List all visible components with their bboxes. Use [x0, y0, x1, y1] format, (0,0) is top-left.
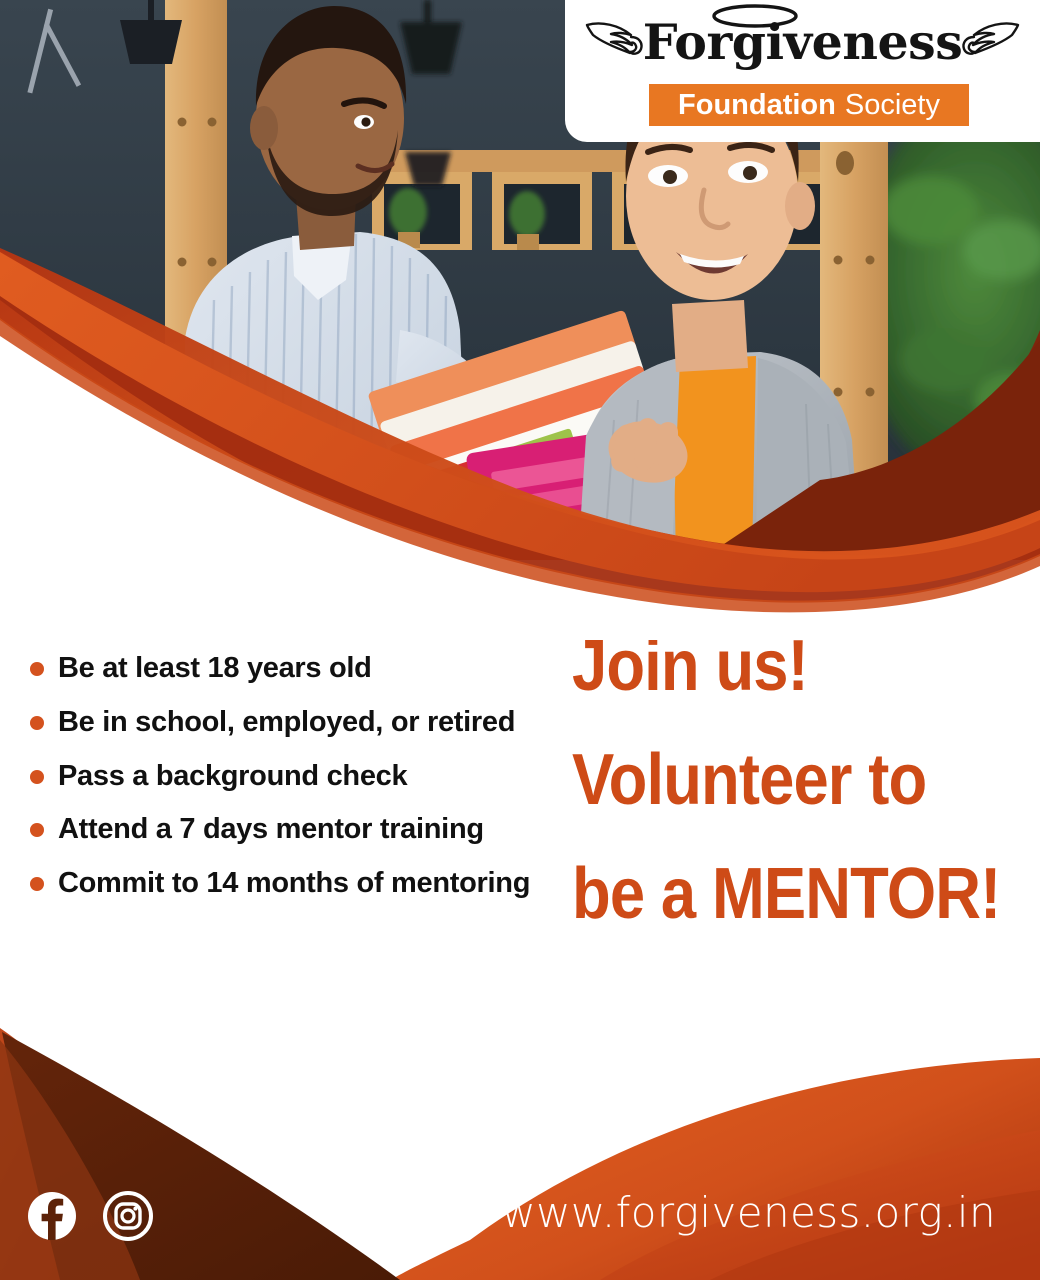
- list-item: Commit to 14 months of mentoring: [22, 865, 567, 902]
- list-item: Be in school, employed, or retired: [22, 704, 567, 741]
- list-item: Pass a background check: [22, 758, 567, 795]
- website-url[interactable]: www.forgiveness.org.in: [501, 1188, 996, 1238]
- brand-logo-card: Forgiveness Foundation Society: [565, 0, 1040, 142]
- logo-subtitle-band: Foundation Society: [649, 84, 969, 126]
- logo-band-foundation: Foundation: [678, 91, 836, 120]
- logo-wordmark-row: Forgiveness: [565, 6, 1040, 78]
- bullet-dot-icon: [30, 716, 44, 730]
- bullet-dot-icon: [30, 823, 44, 837]
- logo-band-society: Society: [845, 91, 940, 120]
- requirement-text: Be in school, employed, or retired: [58, 706, 515, 738]
- social-links: [26, 1190, 154, 1242]
- logo-wordmark-text: Forgiveness: [643, 18, 963, 67]
- angel-wing-left-icon: [585, 19, 649, 65]
- footer: www.forgiveness.org.in: [0, 1170, 1040, 1280]
- headline-line-3: be a MENTOR!: [572, 858, 977, 930]
- bullet-dot-icon: [30, 770, 44, 784]
- headline-line-1: Join us!: [572, 630, 977, 702]
- requirement-text: Pass a background check: [58, 760, 407, 792]
- headline-block: Join us! Volunteer to be a MENTOR!: [572, 630, 1032, 930]
- requirement-text: Attend a 7 days mentor training: [58, 813, 484, 845]
- headline-line-2: Volunteer to: [572, 744, 977, 816]
- main-content: Be at least 18 years old Be in school, e…: [0, 620, 1040, 1040]
- requirement-text: Commit to 14 months of mentoring: [58, 867, 530, 899]
- bullet-dot-icon: [30, 877, 44, 891]
- requirements-list: Be at least 18 years old Be in school, e…: [22, 650, 567, 919]
- angel-wing-right-icon: [956, 19, 1020, 65]
- requirement-text: Be at least 18 years old: [58, 652, 372, 684]
- list-item: Attend a 7 days mentor training: [22, 811, 567, 848]
- bullet-dot-icon: [30, 662, 44, 676]
- instagram-icon[interactable]: [102, 1190, 154, 1242]
- poster-root: Forgiveness Foundation Society: [0, 0, 1040, 1280]
- facebook-icon[interactable]: [26, 1190, 78, 1242]
- list-item: Be at least 18 years old: [22, 650, 567, 687]
- halo-icon: [710, 2, 800, 30]
